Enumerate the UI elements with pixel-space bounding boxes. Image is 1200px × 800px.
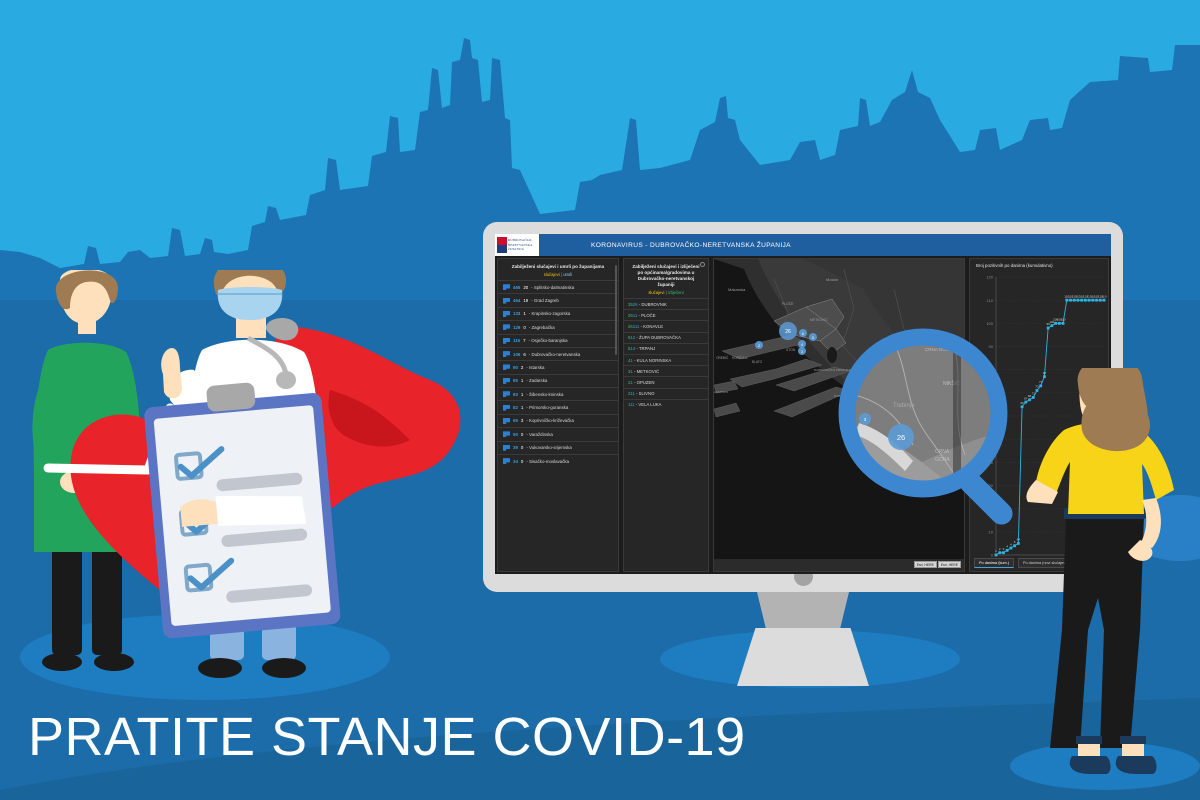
county-cases: 65 [513,418,518,423]
county-name: - Splitsko-dalmatinska [531,285,574,290]
county-row[interactable]: 1331- Krapinsko-zagorska [498,307,618,320]
county-cases: 115 [513,338,520,343]
svg-text:METKOVIĆ: METKOVIĆ [810,317,828,322]
counties-scrollbar[interactable] [615,265,617,355]
svg-text:90: 90 [989,344,994,349]
map-attribution-1: Esri, HERE [914,561,937,568]
county-flag-icon [503,458,510,464]
county-name: - Grad Zagreb [531,298,559,303]
county-row[interactable]: 1157- Osječko-baranjska [498,334,618,347]
county-row[interactable]: 46520- Splitsko-dalmatinska [498,280,618,293]
page-headline: PRATITE STANJE COVID-19 [28,706,746,768]
county-deaths: 1 [521,392,523,397]
county-deaths: 2 [521,365,523,370]
clipboard-checklist [142,376,341,639]
county-deaths: 0 [521,432,523,437]
municipalities-toggle-recovered[interactable]: izliječeni [668,290,684,295]
municipality-name: - ŽUPA DUBROVAČKA [635,335,681,340]
county-row[interactable]: 821- Primorsko-goranska [498,400,618,413]
county-deaths: 1 [521,405,523,410]
tab-po-danima-kum[interactable]: Po danima (kum.) [974,558,1014,568]
counties-toggle[interactable]: slučajevi | umrli [498,272,618,280]
county-name: - Koprivničko-križevačka [526,418,574,423]
county-row[interactable]: 851- Zadarska [498,374,618,387]
county-deaths: 1 [523,311,525,316]
county-name: - Šibensko-kninska [526,392,563,397]
county-flag-icon [503,405,510,411]
county-deaths: 19 [523,298,528,303]
municipality-name: - KONAVLE [639,324,663,329]
county-deaths: 0 [523,325,525,330]
municipality-row[interactable]: 21 - OPUZEN [624,376,708,387]
svg-text:50: 50 [989,437,994,442]
county-deaths: 3 [521,418,523,423]
poster-canvas: PRATITE STANJE COVID-19 [0,0,1200,800]
pin-panel-icon[interactable] [700,262,705,267]
county-row[interactable]: 500- Varaždinska [498,427,618,440]
county-deaths: 0 [521,459,523,464]
woman-observer-illustration [1022,368,1200,788]
county-cases: 129 [513,325,520,330]
svg-text:Mostar: Mostar [826,277,839,282]
county-name: - Vukovarsko-srijemska [526,445,571,450]
coat-of-arms-icon [497,237,507,253]
monitor-base [737,628,869,686]
municipality-row[interactable]: 612 - ŽUPA DUBROVAČKA [624,332,708,343]
county-flag-icon [503,391,510,397]
dashboard-header: DUBROVAČKO- NERETVANSKA ŽUPANIJA KORONAV… [495,234,1111,256]
counties-toggle-sep: | [561,272,562,277]
county-name: - Primorsko-goranska [526,405,568,410]
county-name: - Dubrovačko-neretvanska [529,352,581,357]
svg-text:110: 110 [1102,294,1107,298]
county-cases: 90 [513,365,518,370]
municipalities-toggle-cases[interactable]: slučajevi [648,290,664,295]
svg-text:LASTOVO: LASTOVO [714,390,729,394]
county-name: - Varaždinska [526,432,553,437]
municipalities-panel-title: Zabilježeni slučajevi i izliječeni po op… [624,259,708,290]
svg-text:6: 6 [802,332,804,336]
svg-text:DUBROVNIK: DUBROVNIK [834,394,852,398]
counties-panel: Zabilježeni slučajevi i umrli po županij… [497,258,619,572]
county-flag-icon [503,364,510,370]
county-row[interactable]: 1290- Zagrebačka [498,320,618,333]
county-flag-icon [503,338,510,344]
svg-text:64: 64 [1017,538,1021,542]
svg-text:5: 5 [812,336,814,340]
county-map[interactable]: Makarska Mostar PLOČE METKOVIĆ STON OREB… [714,259,964,559]
monitor-neck [757,592,849,630]
county-cases: 34 [513,459,518,464]
county-cases: 464 [513,298,520,303]
county-row[interactable]: 46419- Grad Zagreb [498,293,618,306]
municipalities-list[interactable]: 3526 - DUBROVNIK2611 - PLOČE26111 - KONA… [624,298,708,410]
dashboard-body: Zabilježeni slučajevi i umrli po županij… [495,256,1111,574]
svg-text:110: 110 [1061,318,1066,322]
svg-text:STON: STON [786,348,796,352]
municipality-name: - TRPANJ [635,346,655,351]
county-cases: 82 [513,405,518,410]
county-name: - Istarska [526,365,544,370]
county-row[interactable]: 1066- Dubrovačko-neretvanska [498,347,618,360]
county-name: - Zagrebačka [529,325,555,330]
municipality-name: - SLIVNO [635,391,655,396]
county-row[interactable]: 902- Istarska [498,360,618,373]
municipality-row[interactable]: 514 - TRPANJ [624,343,708,354]
municipalities-toggle[interactable]: slučajevi | izliječeni [624,290,708,298]
county-deaths: 0 [521,445,523,450]
county-deaths: 7 [523,338,525,343]
county-deaths: 6 [523,352,525,357]
svg-text:10: 10 [989,529,994,534]
monitor-screen: DUBROVAČKO- NERETVANSKA ŽUPANIJA KORONAV… [495,234,1111,574]
chart-title: Broj pozitivnih po danima (kumulativno) [976,263,1053,268]
county-flag-icon [503,284,510,290]
county-row[interactable]: 653- Koprivničko-križevačka [498,414,618,427]
municipality-row[interactable]: 211 - SLIVNO [624,388,708,399]
municipality-name: - DUBROVNIK [638,302,667,307]
municipalities-panel: Zabilježeni slučajevi i izliječeni po op… [623,258,709,572]
county-cases: 106 [513,352,520,357]
municipality-row[interactable]: 3526 - DUBROVNIK [624,298,708,309]
svg-text:40: 40 [989,460,994,465]
municipality-row[interactable]: 26111 - KONAVLE [624,320,708,331]
county-name: - Osječko-baranjska [529,338,568,343]
logo-line-3: ŽUPANIJA [508,247,533,252]
map-attribution-2: Esri, HERE [938,561,961,568]
municipality-name: - PLOČE [637,313,655,318]
county-flag-icon [503,298,510,304]
svg-text:OREBIĆ: OREBIĆ [716,355,729,360]
svg-text:4: 4 [801,343,803,347]
counties-toggle-cases[interactable]: slučajevi [544,272,560,277]
county-deaths: 20 [523,285,528,290]
municipality-row[interactable]: 111 - VELA LUKA [624,399,708,410]
covid-dashboard: DUBROVAČKO- NERETVANSKA ŽUPANIJA KORONAV… [495,234,1111,574]
county-name: - Zadarska [526,378,547,383]
county-cases: 50 [513,432,518,437]
svg-text:26: 26 [785,329,791,335]
county-flag-icon [503,445,510,451]
county-flag-icon [503,431,510,437]
svg-text:30: 30 [989,483,994,488]
county-row[interactable]: 340- Sisačko-moslavačka [498,454,618,467]
municipality-row[interactable]: 31 - METKOVIĆ [624,365,708,376]
county-name: - Sisačko-moslavačka [526,459,569,464]
county-deaths: 1 [521,378,523,383]
county-cases: 133 [513,311,520,316]
svg-text:PLOČE: PLOČE [782,301,794,306]
municipalities-toggle-sep: | [666,290,667,295]
svg-text:110: 110 [987,298,994,303]
municipality-name: - OPUZEN [633,380,655,385]
counties-toggle-deaths[interactable]: umrli [563,272,572,277]
county-flag-icon [503,311,510,317]
svg-text:100: 100 [986,321,993,326]
county-row[interactable]: 390- Vukovarsko-srijemska [498,441,618,454]
svg-text:2: 2 [758,344,760,348]
map-panel[interactable]: Makarska Mostar PLOČE METKOVIĆ STON OREB… [713,258,965,572]
county-flag-icon [503,378,510,384]
county-cases: 465 [513,285,520,290]
svg-text:BLATO: BLATO [752,360,763,364]
svg-text:DUBROVAČKO PRIMORJE: DUBROVAČKO PRIMORJE [814,367,851,372]
municipality-name: - KULA NORINSKA [633,358,671,363]
county-flag-icon [503,324,510,330]
svg-text:120: 120 [986,275,993,280]
dashboard-title: KORONAVIRUS - DUBROVAČKO-NERETVANSKA ŽUP… [539,234,1111,256]
county-cases: 83 [513,392,518,397]
healthcare-workers-illustration [30,270,470,690]
county-logo[interactable]: DUBROVAČKO- NERETVANSKA ŽUPANIJA [495,234,539,256]
counties-list[interactable]: 46520- Splitsko-dalmatinska46419- Grad Z… [498,280,618,467]
county-row[interactable]: 831- Šibensko-kninska [498,387,618,400]
county-cases: 39 [513,445,518,450]
map-attribution: Esri, HERE Esri, HERE [914,561,961,568]
svg-text:KORČULA: KORČULA [732,355,748,360]
svg-text:70: 70 [989,390,994,395]
municipality-row[interactable]: 41 - KULA NORINSKA [624,354,708,365]
county-cases: 85 [513,378,518,383]
municipality-name: - VELA LUKA [635,402,662,407]
municipality-row[interactable]: 2611 - PLOČE [624,309,708,320]
municipality-name: - METKOVIĆ [633,369,659,374]
svg-text:60: 60 [989,414,994,419]
counties-panel-title: Zabilježeni slučajevi i umrli po županij… [498,259,618,272]
county-name: - Krapinsko-zagorska [529,311,570,316]
county-flag-icon [503,351,510,357]
svg-text:3: 3 [801,350,803,354]
svg-text:80: 80 [989,367,994,372]
county-flag-icon [503,418,510,424]
svg-text:Makarska: Makarska [728,287,746,292]
svg-text:20: 20 [989,506,994,511]
